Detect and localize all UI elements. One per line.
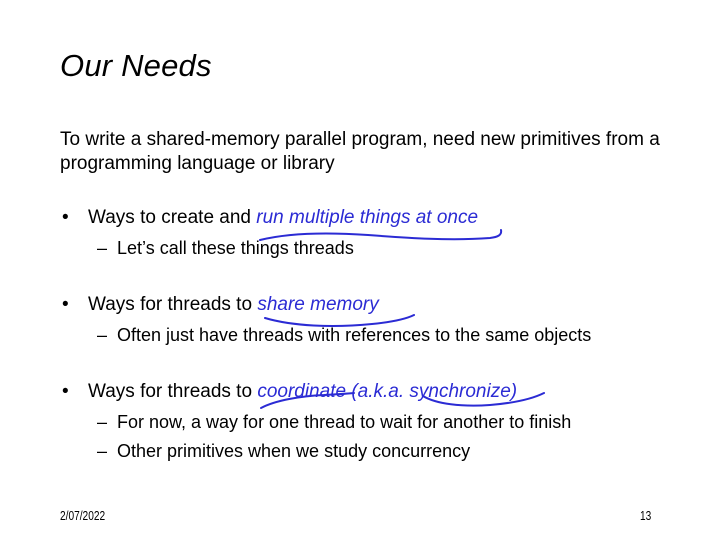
sub-bullet-text: Often just have threads with references … <box>117 325 591 345</box>
slide-body: To write a shared-memory parallel progra… <box>60 128 668 463</box>
bullet-group-2: • Ways for threads to share memory – Oft… <box>60 293 668 347</box>
sub-bullet-item-2-1: – Often just have threads with reference… <box>60 324 668 347</box>
sub-bullet-text: For now, a way for one thread to wait fo… <box>117 412 571 432</box>
sub-bullet-text: Let’s call these things threads <box>117 238 354 258</box>
bullet-text-lead: Ways for threads to <box>88 294 257 315</box>
bullet-marker: • <box>62 293 69 317</box>
bullet-item-2: • Ways for threads to share memory <box>60 293 668 317</box>
bullet-marker: • <box>62 380 69 404</box>
bullet-highlight-share-memory: share memory <box>257 294 378 315</box>
footer-date: 2/07/2022 <box>60 508 105 523</box>
sub-bullet-marker: – <box>97 237 107 260</box>
bullet-marker: • <box>62 206 69 230</box>
bullet-text-lead: Ways for threads to <box>88 381 257 402</box>
sub-bullet-text: Other primitives when we study concurren… <box>117 441 470 461</box>
bullet-group-1: • Ways to create and run multiple things… <box>60 206 668 260</box>
sub-bullet-marker: – <box>97 440 107 463</box>
bullet-highlight-run-multiple: run multiple things at once <box>256 207 478 228</box>
bullet-item-1: • Ways to create and run multiple things… <box>60 206 668 230</box>
bullet-item-3: • Ways for threads to coordinate (a.k.a.… <box>60 380 668 404</box>
slide: Our Needs To write a shared-memory paral… <box>0 0 720 540</box>
sub-bullet-item-3-1: – For now, a way for one thread to wait … <box>60 411 668 434</box>
sub-bullet-item-1-1: – Let’s call these things threads <box>60 237 668 260</box>
intro-paragraph: To write a shared-memory parallel progra… <box>60 128 660 176</box>
page-title: Our Needs <box>60 48 212 84</box>
bullet-highlight-coordinate: coordinate <box>257 381 346 402</box>
footer-page-number: 13 <box>640 508 651 523</box>
bullet-highlight-synchronize: (a.k.a. synchronize) <box>346 381 517 402</box>
sub-bullet-item-3-2: – Other primitives when we study concurr… <box>60 440 668 463</box>
sub-bullet-marker: – <box>97 411 107 434</box>
bullet-group-3: • Ways for threads to coordinate (a.k.a.… <box>60 380 668 463</box>
sub-bullet-marker: – <box>97 324 107 347</box>
bullet-text-lead: Ways to create and <box>88 207 256 228</box>
